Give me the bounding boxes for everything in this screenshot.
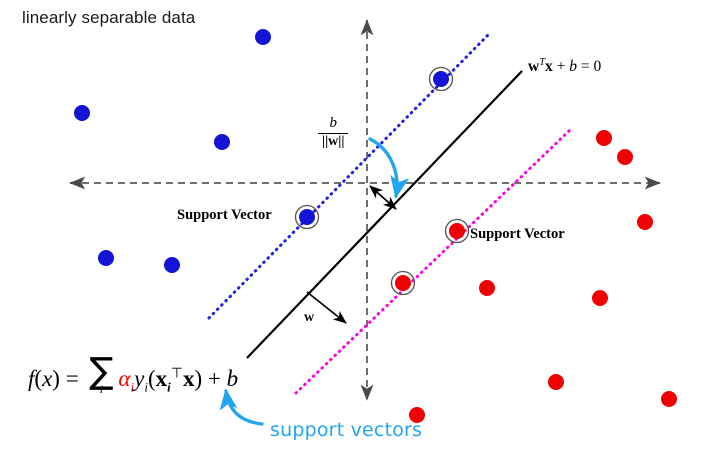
data-point-red[interactable] [592,290,608,306]
support-vector-blue[interactable] [430,68,453,91]
data-point-red[interactable] [548,374,564,390]
data-point-blue[interactable] [74,105,90,121]
axes-group [70,20,660,400]
support-vector-blue[interactable] [296,206,319,229]
normal-vector-label: w [304,310,314,326]
support-vectors-callout-text: support vectors [270,419,422,441]
margin-denominator: ||w|| [318,134,348,150]
decision-boundary-label: wTx + b = 0 [528,57,601,76]
margin-distance-label: b ||w|| [318,116,348,150]
data-point-blue[interactable] [98,250,114,266]
data-point-blue [299,209,315,225]
svm-diagram-canvas: linearly separable data wTx + b = 0 b ||… [0,0,706,459]
data-point-red [395,275,411,291]
decision-function-formula: f(x) = ∑iαiyi(xi⊤x) + b [28,358,238,396]
summation-symbol: ∑i [84,358,118,395]
data-point-red[interactable] [637,214,653,230]
positive-margin-line [296,130,570,393]
figure-title: linearly separable data [22,8,195,28]
data-point-blue[interactable] [255,29,271,45]
data-point-red[interactable] [617,149,633,165]
data-point-blue [433,71,449,87]
data-point-red [449,223,465,239]
data-point-blue[interactable] [214,134,230,150]
margin-distance-arrow [370,186,396,209]
support-vectors-callout-curve [226,391,262,424]
margin-callout-curve [370,139,397,196]
margin-numerator: b [318,116,348,133]
data-point-red[interactable] [596,130,612,146]
support-vector-red[interactable] [392,272,415,295]
support-vector-label-right: Support Vector [470,226,565,243]
data-point-red[interactable] [661,391,677,407]
data-point-blue[interactable] [164,257,180,273]
alpha-coefficient: αi [118,366,134,391]
data-point-red[interactable] [479,280,495,296]
support-vector-label-left: Support Vector [177,207,272,224]
